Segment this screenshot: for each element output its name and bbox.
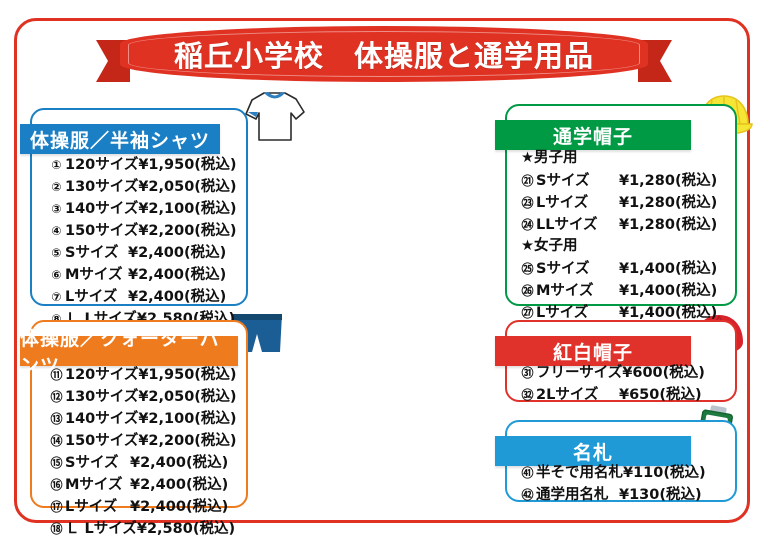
item-price: ¥2,050(税込) <box>138 386 246 408</box>
item-number: ㊶ <box>519 464 536 482</box>
title-banner: 稲丘小学校 体操服と通学用品 <box>96 24 672 90</box>
item-price: ¥2,400(税込) <box>130 474 238 496</box>
price-row: ㉑ Sサイズ ¥1,280(税込) <box>519 170 727 192</box>
price-row: ⑮ Sサイズ ¥2,400(税込) <box>48 452 238 474</box>
item-number: ⑤ <box>48 244 65 262</box>
item-label: Lサイズ <box>65 496 130 518</box>
item-label: Mサイズ <box>65 474 130 496</box>
item-label: 120サイズ <box>65 364 138 386</box>
price-row: ㊶ 半そで用名札 ¥110(税込) <box>519 462 727 484</box>
price-row: ① 120サイズ ¥1,950(税込) <box>48 154 236 176</box>
price-row: ⑯ Mサイズ ¥2,400(税込) <box>48 474 238 496</box>
item-price: ¥2,580(税込) <box>137 518 245 540</box>
panel-gym-shirt: 体操服／半袖シャツ ① 120サイズ ¥1,950(税込) ② 130サイズ ¥… <box>30 108 248 306</box>
item-label: 半そで用名札 <box>536 462 623 484</box>
item-number: ④ <box>48 222 65 240</box>
item-price: ¥1,950(税込) <box>138 154 246 176</box>
item-price: ¥1,280(税込) <box>619 170 727 192</box>
item-number: ㉔ <box>519 216 536 234</box>
panel-header-school-hat: 通学帽子 <box>495 120 691 150</box>
item-label: 2Lサイズ <box>536 384 619 406</box>
panel-title: 紅白帽子 <box>553 338 633 365</box>
item-label: 140サイズ <box>65 198 138 220</box>
panel-header-gym-shirt: 体操服／半袖シャツ <box>20 124 220 154</box>
price-row: ⑪ 120サイズ ¥1,950(税込) <box>48 364 238 386</box>
item-price: ¥600(税込) <box>622 362 730 384</box>
price-list-red-white-cap: ㉛ フリーサイズ ¥600(税込) ㉜ 2Lサイズ ¥650(税込) <box>519 362 727 406</box>
item-number: ㉓ <box>519 194 536 212</box>
item-number: ㉑ <box>519 172 536 190</box>
item-price: ¥1,280(税込) <box>619 192 727 214</box>
item-number: ㉖ <box>519 282 536 300</box>
white-tshirt-icon <box>244 88 306 146</box>
item-price: ¥650(税込) <box>619 384 727 406</box>
price-row: ㊷ 通学用名札 ¥130(税込) <box>519 484 727 506</box>
item-label: 120サイズ <box>65 154 138 176</box>
price-row: ㉔ LLサイズ ¥1,280(税込) <box>519 214 727 236</box>
item-label: Mサイズ <box>536 280 619 302</box>
price-row: ⑱ Ｌ Lサイズ ¥2,580(税込) <box>48 518 238 540</box>
item-price: ¥1,950(税込) <box>138 364 246 386</box>
item-number: ㉜ <box>519 386 536 404</box>
poster-title: 稲丘小学校 体操服と通学用品 <box>120 26 648 82</box>
item-price: ¥2,050(税込) <box>138 176 246 198</box>
item-label: Sサイズ <box>65 452 130 474</box>
item-label: LLサイズ <box>536 214 619 236</box>
item-number: ㉕ <box>519 260 536 278</box>
item-price: ¥2,400(税込) <box>128 264 236 286</box>
item-label: 130サイズ <box>65 176 138 198</box>
price-row: ⑰ Lサイズ ¥2,400(税込) <box>48 496 238 518</box>
item-number: ② <box>48 178 65 196</box>
item-label: フリーサイズ <box>536 362 622 384</box>
item-number: ⑱ <box>48 520 65 538</box>
item-number: ⑰ <box>48 498 65 516</box>
item-price: ¥2,200(税込) <box>138 220 246 242</box>
price-row: ⑬ 140サイズ ¥2,100(税込) <box>48 408 238 430</box>
panel-school-hat: 通学帽子 ★男子用 ㉑ Sサイズ ¥1,280(税込) ㉓ Lサイズ ¥1,28… <box>505 104 737 306</box>
price-list-gym-pants: ⑪ 120サイズ ¥1,950(税込) ⑫ 130サイズ ¥2,050(税込) … <box>48 364 238 540</box>
item-price: ¥110(税込) <box>623 462 731 484</box>
item-price: ¥2,100(税込) <box>138 408 246 430</box>
item-number: ㉛ <box>519 364 536 382</box>
item-number: ⑥ <box>48 266 65 284</box>
item-label: Lサイズ <box>65 286 128 308</box>
panel-title: 名札 <box>573 438 613 465</box>
price-row: ③ 140サイズ ¥2,100(税込) <box>48 198 236 220</box>
item-number: ㊷ <box>519 486 536 504</box>
item-label: 150サイズ <box>65 220 138 242</box>
item-price: ¥2,400(税込) <box>130 496 238 518</box>
price-row: ④ 150サイズ ¥2,200(税込) <box>48 220 236 242</box>
price-row: ⑫ 130サイズ ¥2,050(税込) <box>48 386 238 408</box>
item-price: ¥2,200(税込) <box>138 430 246 452</box>
item-label: Ｌ Lサイズ <box>65 518 137 540</box>
item-price: ¥2,400(税込) <box>128 286 236 308</box>
item-label: Sサイズ <box>536 258 619 280</box>
item-price: ¥1,400(税込) <box>619 258 727 280</box>
price-row: ㉕ Sサイズ ¥1,400(税込) <box>519 258 727 280</box>
item-price: ¥2,400(税込) <box>128 242 236 264</box>
price-row: ⑤ Sサイズ ¥2,400(税込) <box>48 242 236 264</box>
item-label: Sサイズ <box>65 242 128 264</box>
item-number: ⑪ <box>48 366 65 384</box>
item-number: ③ <box>48 200 65 218</box>
item-number: ⑭ <box>48 432 65 450</box>
price-list-school-hat: ★男子用 ㉑ Sサイズ ¥1,280(税込) ㉓ Lサイズ ¥1,280(税込)… <box>519 148 727 346</box>
price-row: ⑭ 150サイズ ¥2,200(税込) <box>48 430 238 452</box>
price-row: ⑦ Lサイズ ¥2,400(税込) <box>48 286 236 308</box>
price-row: ② 130サイズ ¥2,050(税込) <box>48 176 236 198</box>
item-label: Mサイズ <box>65 264 128 286</box>
item-number: ⑮ <box>48 454 65 472</box>
item-label: 140サイズ <box>65 408 138 430</box>
section-girls: ★女子用 <box>519 236 727 258</box>
panel-title: 体操服／半袖シャツ <box>30 126 210 153</box>
panel-name-tag: 名札 ㊶ 半そで用名札 ¥110(税込) ㊷ 通学用名札 ¥130(税込) <box>505 420 737 502</box>
panel-gym-pants: 体操服／クォーターパンツ ⑪ 120サイズ ¥1,950(税込) ⑫ 130サイ… <box>30 320 248 508</box>
item-price: ¥2,100(税込) <box>138 198 246 220</box>
price-row: ㉜ 2Lサイズ ¥650(税込) <box>519 384 727 406</box>
item-price: ¥1,280(税込) <box>619 214 727 236</box>
item-number: ⑫ <box>48 388 65 406</box>
item-number: ⑬ <box>48 410 65 428</box>
price-list-gym-shirt: ① 120サイズ ¥1,950(税込) ② 130サイズ ¥2,050(税込) … <box>48 154 236 330</box>
item-label: 150サイズ <box>65 430 138 452</box>
price-row: ㉛ フリーサイズ ¥600(税込) <box>519 362 727 384</box>
panel-header-gym-pants: 体操服／クォーターパンツ <box>20 336 238 366</box>
poster-root: ♩ ♪ ♩ ♫ ♫ ♪ ♫ <box>0 0 768 543</box>
price-list-name-tag: ㊶ 半そで用名札 ¥110(税込) ㊷ 通学用名札 ¥130(税込) <box>519 462 727 506</box>
panel-title: 通学帽子 <box>553 122 633 149</box>
item-number: ⑦ <box>48 288 65 306</box>
price-row: ㉖ Mサイズ ¥1,400(税込) <box>519 280 727 302</box>
price-row: ㉓ Lサイズ ¥1,280(税込) <box>519 192 727 214</box>
price-row: ⑥ Mサイズ ¥2,400(税込) <box>48 264 236 286</box>
item-label: 通学用名札 <box>536 484 619 506</box>
item-price: ¥130(税込) <box>619 484 727 506</box>
item-price: ¥2,400(税込) <box>130 452 238 474</box>
item-label: 130サイズ <box>65 386 138 408</box>
item-number: ① <box>48 156 65 174</box>
section-boys: ★男子用 <box>519 148 727 170</box>
item-number: ⑯ <box>48 476 65 494</box>
item-label: Sサイズ <box>536 170 619 192</box>
item-price: ¥1,400(税込) <box>619 280 727 302</box>
panel-red-white-cap: 紅白帽子 ㉛ フリーサイズ ¥600(税込) ㉜ 2Lサイズ ¥650(税込) <box>505 320 737 402</box>
item-label: Lサイズ <box>536 192 619 214</box>
